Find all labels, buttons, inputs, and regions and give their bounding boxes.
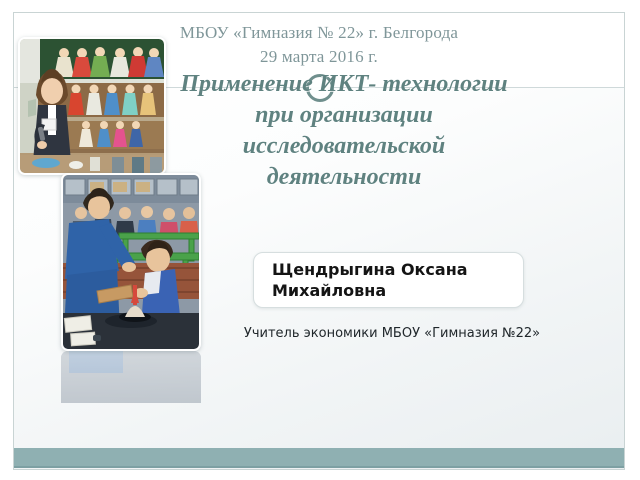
photo-girl-presenting-dolls <box>18 37 166 175</box>
footer-accent-bar <box>14 448 624 468</box>
presentation-slide: МБОУ «Гимназия № 22» г. Белгорода 29 мар… <box>0 0 640 480</box>
photo-workshop-classroom-reflection <box>61 351 201 403</box>
photo-workshop-classroom <box>61 173 201 351</box>
slide-frame: МБОУ «Гимназия № 22» г. Белгорода 29 мар… <box>13 12 625 470</box>
author-role: Учитель экономики МБОУ «Гимназия №22» <box>227 325 557 342</box>
slide-title: Применение ИКТ- технологии при организац… <box>164 69 524 193</box>
author-name: Щендрыгина Оксана Михайловна <box>272 259 513 301</box>
author-name-card: Щендрыгина Оксана Михайловна <box>253 252 524 308</box>
